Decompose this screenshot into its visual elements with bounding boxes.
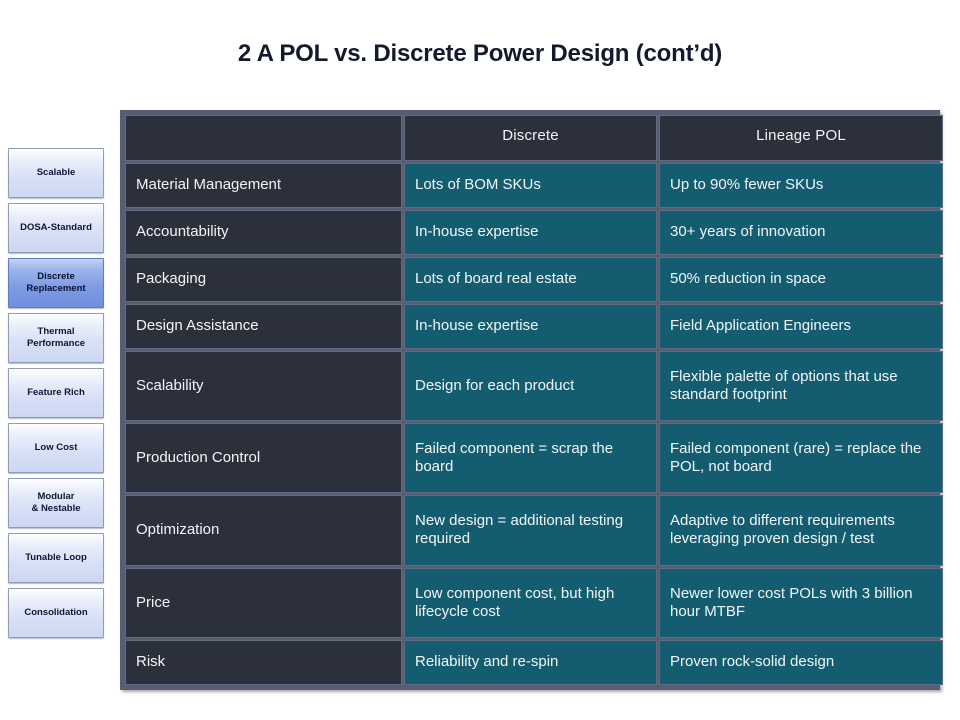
sidebar-item-label: Tunable Loop: [25, 552, 87, 564]
lineage-value-cell: Up to 90% fewer SKUs: [659, 163, 943, 208]
lineage-value-cell: 30+ years of innovation: [659, 210, 943, 255]
lineage-value-cell: Newer lower cost POLs with 3 billion hou…: [659, 568, 943, 638]
row-label-cell: Scalability: [125, 351, 402, 421]
sidebar-item-label: DOSA-Standard: [20, 222, 92, 234]
comparison-table: Discrete Lineage POL Material Management…: [123, 113, 945, 687]
discrete-value-cell: Lots of board real estate: [404, 257, 657, 302]
sidebar-item-scalable[interactable]: Scalable: [8, 148, 104, 198]
table-row: ScalabilityDesign for each productFlexib…: [125, 351, 943, 421]
sidebar-nav: ScalableDOSA-StandardDiscrete Replacemen…: [8, 148, 106, 643]
discrete-value-cell: In-house expertise: [404, 304, 657, 349]
table-row: AccountabilityIn-house expertise30+ year…: [125, 210, 943, 255]
discrete-value-cell: Lots of BOM SKUs: [404, 163, 657, 208]
discrete-value-cell: Design for each product: [404, 351, 657, 421]
row-label-cell: Price: [125, 568, 402, 638]
comparison-table-container: Discrete Lineage POL Material Management…: [120, 110, 940, 690]
discrete-value-cell: Low component cost, but high lifecycle c…: [404, 568, 657, 638]
page-title: 2 A POL vs. Discrete Power Design (cont’…: [0, 40, 960, 68]
row-label-cell: Material Management: [125, 163, 402, 208]
sidebar-item-discrete-replacement[interactable]: Discrete Replacement: [8, 258, 104, 308]
sidebar-item-feature-rich[interactable]: Feature Rich: [8, 368, 104, 418]
sidebar-item-label: Feature Rich: [27, 387, 85, 399]
table-row: RiskReliability and re-spinProven rock-s…: [125, 640, 943, 685]
row-label-cell: Optimization: [125, 495, 402, 565]
sidebar-item-low-cost[interactable]: Low Cost: [8, 423, 104, 473]
lineage-value-cell: 50% reduction in space: [659, 257, 943, 302]
sidebar-item-label: Low Cost: [35, 442, 78, 454]
discrete-value-cell: Reliability and re-spin: [404, 640, 657, 685]
sidebar-item-label: Discrete Replacement: [26, 271, 85, 295]
discrete-value-cell: In-house expertise: [404, 210, 657, 255]
lineage-value-cell: Proven rock-solid design: [659, 640, 943, 685]
table-header-row: Discrete Lineage POL: [125, 115, 943, 161]
sidebar-item-label: Consolidation: [24, 607, 87, 619]
row-label-cell: Design Assistance: [125, 304, 402, 349]
lineage-value-cell: Adaptive to different requirements lever…: [659, 495, 943, 565]
row-label-cell: Production Control: [125, 423, 402, 493]
lineage-value-cell: Flexible palette of options that use sta…: [659, 351, 943, 421]
table-row: Material ManagementLots of BOM SKUsUp to…: [125, 163, 943, 208]
sidebar-item-label: Modular & Nestable: [31, 491, 80, 515]
row-label-cell: Risk: [125, 640, 402, 685]
table-row: PriceLow component cost, but high lifecy…: [125, 568, 943, 638]
row-label-cell: Accountability: [125, 210, 402, 255]
header-cell-lineage-pol: Lineage POL: [659, 115, 943, 161]
row-label-cell: Packaging: [125, 257, 402, 302]
discrete-value-cell: New design = additional testing required: [404, 495, 657, 565]
table-row: Design AssistanceIn-house expertiseField…: [125, 304, 943, 349]
sidebar-item-thermal-performance[interactable]: Thermal Performance: [8, 313, 104, 363]
lineage-value-cell: Field Application Engineers: [659, 304, 943, 349]
sidebar-item-label: Scalable: [37, 167, 76, 179]
sidebar-item-dosa-standard[interactable]: DOSA-Standard: [8, 203, 104, 253]
table-row: PackagingLots of board real estate50% re…: [125, 257, 943, 302]
header-cell-blank: [125, 115, 402, 161]
table-row: Production ControlFailed component = scr…: [125, 423, 943, 493]
sidebar-item-modular-nestable[interactable]: Modular & Nestable: [8, 478, 104, 528]
sidebar-item-tunable-loop[interactable]: Tunable Loop: [8, 533, 104, 583]
lineage-value-cell: Failed component (rare) = replace the PO…: [659, 423, 943, 493]
table-row: OptimizationNew design = additional test…: [125, 495, 943, 565]
discrete-value-cell: Failed component = scrap the board: [404, 423, 657, 493]
header-cell-discrete: Discrete: [404, 115, 657, 161]
sidebar-item-label: Thermal Performance: [27, 326, 85, 350]
sidebar-item-consolidation[interactable]: Consolidation: [8, 588, 104, 638]
